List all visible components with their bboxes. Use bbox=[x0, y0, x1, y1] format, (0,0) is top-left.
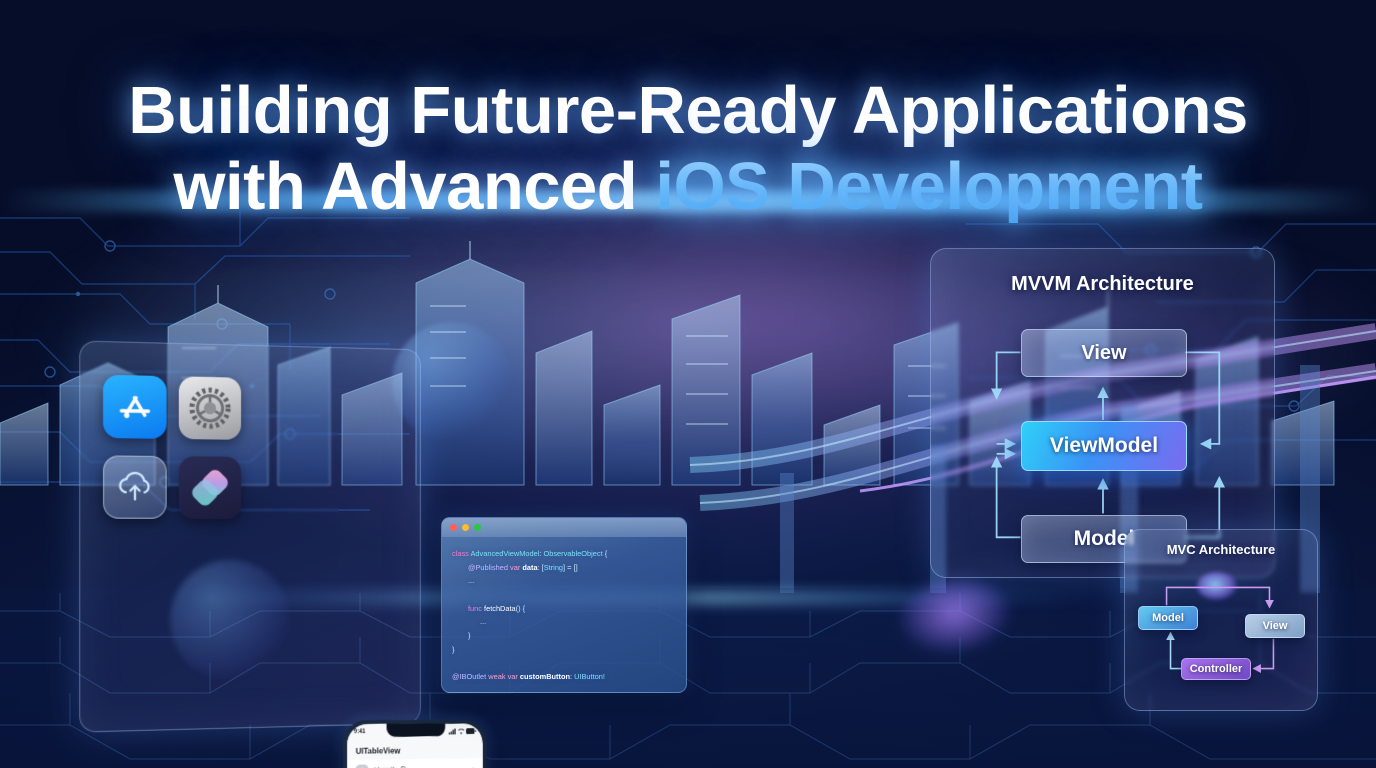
settings-gear-icon[interactable] bbox=[179, 376, 241, 439]
mvvm-node-viewmodel[interactable]: ViewModel bbox=[1021, 421, 1187, 471]
mvc-energy-blob bbox=[1197, 572, 1237, 600]
code-token: } bbox=[452, 645, 454, 654]
code-token: class bbox=[452, 549, 470, 558]
code-token: ] = [] bbox=[563, 563, 578, 572]
title-line-1: Building Future-Ready Applications bbox=[0, 73, 1376, 149]
title-highlight: iOS Development bbox=[655, 149, 1202, 224]
table-section-title: UITableView bbox=[347, 739, 483, 760]
title-line-2: with Advanced iOS Development bbox=[0, 149, 1376, 225]
code-token: fetchData bbox=[484, 604, 516, 613]
code-token: AdvancedViewModel bbox=[470, 549, 539, 558]
code-token: String bbox=[544, 563, 563, 572]
code-line bbox=[452, 588, 676, 602]
battery-icon bbox=[466, 728, 476, 734]
mvc-node-view[interactable]: View bbox=[1245, 614, 1305, 638]
code-token: ObservableObject bbox=[543, 549, 602, 558]
node-label: View bbox=[1081, 342, 1126, 365]
hero-banner: Building Future-Ready Applications with … bbox=[0, 0, 1376, 768]
code-line bbox=[452, 657, 676, 671]
code-token: } bbox=[468, 631, 470, 640]
node-label: Model bbox=[1152, 612, 1184, 624]
code-token bbox=[452, 659, 454, 668]
code-token: @Published bbox=[468, 563, 510, 572]
code-line: } bbox=[452, 643, 676, 657]
code-token: customButton bbox=[520, 672, 570, 681]
mvc-architecture-panel: MVC Architecture Model View Controller bbox=[1124, 529, 1318, 711]
wifi-icon bbox=[458, 728, 464, 734]
iphone-mockup: 9:41 UITableView User Profile › bbox=[343, 720, 486, 768]
mvc-node-controller[interactable]: Controller bbox=[1181, 658, 1251, 680]
page-title: Building Future-Ready Applications with … bbox=[0, 73, 1376, 224]
code-line: func fetchData() { bbox=[452, 602, 676, 616]
mvvm-title: MVVM Architecture bbox=[931, 273, 1274, 296]
phone-status-bar: 9:41 bbox=[347, 723, 483, 740]
icloud-upload-icon[interactable] bbox=[103, 455, 167, 518]
app-store-icon[interactable] bbox=[103, 375, 167, 439]
code-token: () { bbox=[516, 604, 525, 613]
mvvm-node-view[interactable]: View bbox=[1021, 329, 1187, 377]
close-button[interactable] bbox=[450, 524, 457, 531]
code-token: { bbox=[603, 549, 608, 558]
code-line: @IBOutlet weak var customButton: UIButto… bbox=[452, 670, 676, 684]
ios-showcase-panel: 9:41 UITableView User Profile › bbox=[79, 340, 421, 732]
mvc-node-model[interactable]: Model bbox=[1138, 606, 1198, 630]
code-editor-window: class AdvancedViewModel: ObservableObjec… bbox=[441, 517, 687, 693]
code-content: class AdvancedViewModel: ObservableObjec… bbox=[442, 537, 686, 684]
zoom-button[interactable] bbox=[474, 524, 481, 531]
node-label: View bbox=[1263, 620, 1288, 632]
mvc-title: MVC Architecture bbox=[1125, 542, 1317, 557]
minimize-button[interactable] bbox=[462, 524, 469, 531]
code-token: ... bbox=[468, 576, 474, 585]
node-label: Controller bbox=[1190, 663, 1243, 675]
phone-screen: 9:41 UITableView User Profile › bbox=[347, 723, 483, 768]
title-line-2-prefix: with Advanced bbox=[173, 149, 655, 224]
code-token: ... bbox=[480, 617, 486, 626]
person-icon bbox=[356, 765, 369, 768]
signal-icon bbox=[449, 728, 456, 734]
code-token: var bbox=[510, 563, 522, 572]
status-time: 9:41 bbox=[354, 729, 366, 735]
code-line: ... bbox=[452, 615, 676, 629]
code-token: data bbox=[522, 563, 537, 572]
code-token bbox=[452, 590, 454, 599]
shortcuts-icon[interactable] bbox=[179, 456, 241, 519]
code-line: @Published var data: [String] = [] bbox=[452, 561, 676, 575]
code-token: func bbox=[468, 604, 484, 613]
node-label: ViewModel bbox=[1050, 434, 1158, 458]
code-token: weak bbox=[488, 672, 507, 681]
status-indicators bbox=[449, 728, 477, 734]
code-line: } bbox=[452, 629, 676, 643]
table-row[interactable]: User Profile › bbox=[347, 758, 483, 768]
code-line: class AdvancedViewModel: ObservableObjec… bbox=[452, 547, 676, 561]
app-icon-grid bbox=[103, 375, 250, 536]
code-token: UIButton! bbox=[574, 672, 605, 681]
code-token: var bbox=[508, 672, 520, 681]
code-line: ... bbox=[452, 574, 676, 588]
code-window-titlebar bbox=[442, 518, 686, 537]
code-token: @IBOutlet bbox=[452, 672, 488, 681]
